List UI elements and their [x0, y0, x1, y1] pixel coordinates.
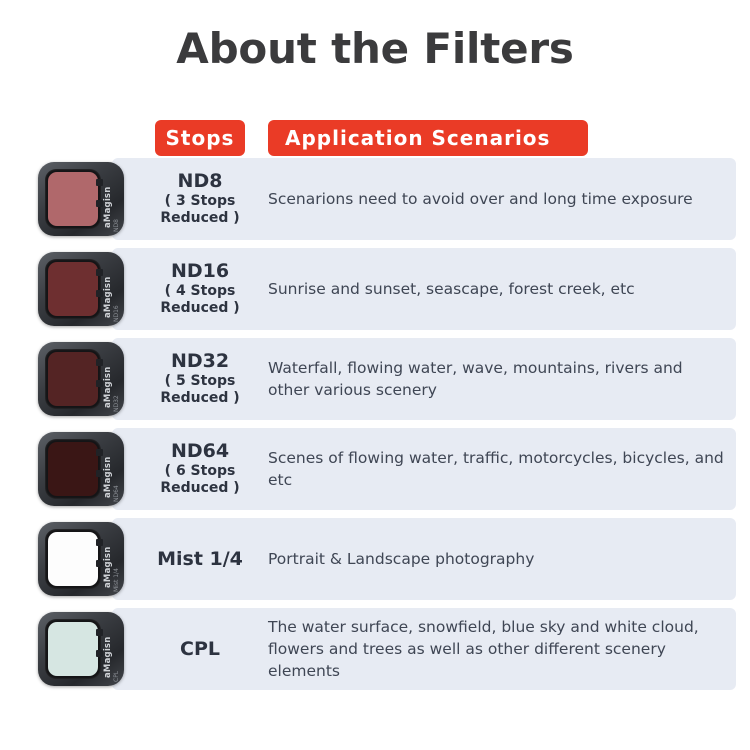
scenario-cell: Sunrise and sunset, seascape, forest cre…	[268, 248, 724, 330]
stops-cell: ND16( 4 StopsReduced )	[140, 248, 260, 330]
table-row: aMagisnND16ND16( 4 StopsReduced )Sunrise…	[0, 248, 750, 330]
filter-frame: aMagisnND64	[38, 432, 124, 506]
filter-bezel	[45, 529, 101, 589]
column-header-application-scenarios: Application Scenarios	[268, 120, 588, 156]
filter-notch-icon	[96, 650, 103, 657]
filter-stops-line2: Reduced )	[160, 210, 239, 228]
filter-nd8-icon: aMagisnND8	[38, 162, 142, 236]
scenario-cell: Scenes of flowing water, traffic, motorc…	[268, 428, 724, 510]
filter-stops-line1: ( 4 Stops	[165, 283, 236, 301]
filter-cpl-icon: aMagisnCPL	[38, 612, 142, 686]
scenario-text: Sunrise and sunset, seascape, forest cre…	[268, 278, 635, 300]
stops-cell: ND64( 6 StopsReduced )	[140, 428, 260, 510]
filter-name: Mist 1/4	[157, 548, 243, 570]
filter-name: ND8	[178, 170, 223, 192]
filter-frame: aMagisnCPL	[38, 612, 124, 686]
stops-cell: Mist 1/4	[140, 518, 260, 600]
filter-frame: aMagisnND16	[38, 252, 124, 326]
table-row: aMagisnND32ND32( 5 StopsReduced )Waterfa…	[0, 338, 750, 420]
filter-glass	[48, 622, 98, 676]
filters-table: aMagisnND8ND8( 3 StopsReduced )Scenarion…	[0, 158, 750, 698]
filter-notch-icon	[96, 269, 103, 276]
scenario-text: Portrait & Landscape photography	[268, 548, 534, 570]
filter-notch-icon	[96, 290, 103, 297]
scenario-text: The water surface, snowfield, blue sky a…	[268, 616, 724, 682]
filter-name: ND16	[171, 260, 229, 282]
filter-glass	[48, 352, 98, 406]
filter-model-label: ND16	[113, 282, 122, 322]
filter-frame: aMagisnND8	[38, 162, 124, 236]
table-row: aMagisnND64ND64( 6 StopsReduced )Scenes …	[0, 428, 750, 510]
column-header-stops: Stops	[155, 120, 245, 156]
filter-name: ND32	[171, 350, 229, 372]
filter-model-label: ND8	[113, 192, 122, 232]
filter-nd64-icon: aMagisnND64	[38, 432, 142, 506]
filter-model-label: Mist 1/4	[113, 552, 122, 592]
scenario-text: Scenes of flowing water, traffic, motorc…	[268, 447, 724, 491]
filter-notch-icon	[96, 200, 103, 207]
filter-notch-icon	[96, 539, 103, 546]
filter-notch-icon	[96, 179, 103, 186]
table-row: aMagisnMist 1/4Mist 1/4Portrait & Landsc…	[0, 518, 750, 600]
filter-name: CPL	[180, 638, 220, 660]
filter-bezel	[45, 349, 101, 409]
filter-notch-icon	[96, 449, 103, 456]
filter-stops-line1: ( 3 Stops	[165, 193, 236, 211]
scenario-text: Waterfall, flowing water, wave, mountain…	[268, 357, 724, 401]
filter-notch-icon	[96, 629, 103, 636]
table-header: Stops Application Scenarios	[0, 120, 750, 156]
table-row: aMagisnND8ND8( 3 StopsReduced )Scenarion…	[0, 158, 750, 240]
filter-stops-line1: ( 6 Stops	[165, 463, 236, 481]
filter-frame: aMagisnMist 1/4	[38, 522, 124, 596]
filter-stops-line2: Reduced )	[160, 480, 239, 498]
filter-stops-line2: Reduced )	[160, 390, 239, 408]
filter-nd32-icon: aMagisnND32	[38, 342, 142, 416]
table-row: aMagisnCPLCPLThe water surface, snowfiel…	[0, 608, 750, 690]
filter-frame: aMagisnND32	[38, 342, 124, 416]
filter-notch-icon	[96, 359, 103, 366]
filter-model-label: CPL	[113, 642, 122, 682]
filter-bezel	[45, 259, 101, 319]
filter-bezel	[45, 619, 101, 679]
filter-glass	[48, 172, 98, 226]
scenario-cell: Portrait & Landscape photography	[268, 518, 724, 600]
filter-glass	[48, 262, 98, 316]
scenario-cell: The water surface, snowfield, blue sky a…	[268, 608, 724, 690]
filter-notch-icon	[96, 380, 103, 387]
filter-notch-icon	[96, 560, 103, 567]
filter-bezel	[45, 169, 101, 229]
stops-cell: ND8( 3 StopsReduced )	[140, 158, 260, 240]
filter-notch-icon	[96, 470, 103, 477]
stops-cell: ND32( 5 StopsReduced )	[140, 338, 260, 420]
filter-stops-line1: ( 5 Stops	[165, 373, 236, 391]
filter-name: ND64	[171, 440, 229, 462]
page-title: About the Filters	[0, 24, 750, 73]
filter-stops-line2: Reduced )	[160, 300, 239, 318]
scenario-text: Scenarions need to avoid over and long t…	[268, 188, 693, 210]
scenario-cell: Waterfall, flowing water, wave, mountain…	[268, 338, 724, 420]
stops-cell: CPL	[140, 608, 260, 690]
filter-glass	[48, 442, 98, 496]
filter-nd16-icon: aMagisnND16	[38, 252, 142, 326]
filter-model-label: ND32	[113, 372, 122, 412]
filter-bezel	[45, 439, 101, 499]
filter-glass	[48, 532, 98, 586]
scenario-cell: Scenarions need to avoid over and long t…	[268, 158, 724, 240]
filter-mist-icon: aMagisnMist 1/4	[38, 522, 142, 596]
filter-model-label: ND64	[113, 462, 122, 502]
